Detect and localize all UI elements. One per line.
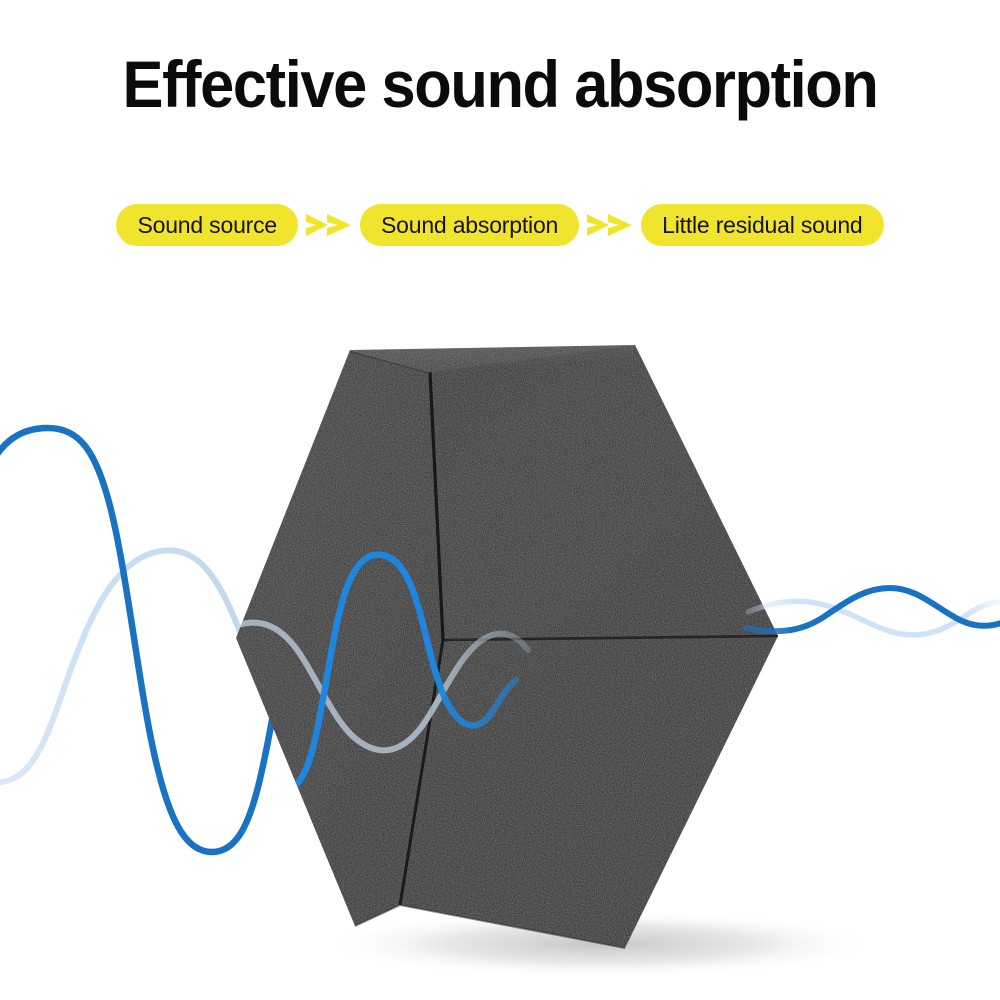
absorbed-wave-primary (232, 555, 516, 789)
page-title: Effective sound absorption (35, 48, 965, 120)
flow-step-little-residual-sound[interactable]: Little residual sound (641, 204, 883, 246)
product-feature-banner: Effective sound absorption Sound source … (0, 0, 1000, 1000)
absorbed-wave-secondary (230, 623, 528, 751)
process-flow: Sound source Sound absorption Little res… (0, 203, 1000, 247)
flow-step-sound-source[interactable]: Sound source (116, 204, 298, 246)
sound-wave-overlay (0, 0, 1000, 1000)
double-chevron-right-icon-2 (579, 204, 641, 246)
double-chevron-right-icon (298, 204, 360, 246)
flow-step-sound-absorption[interactable]: Sound absorption (360, 204, 579, 246)
